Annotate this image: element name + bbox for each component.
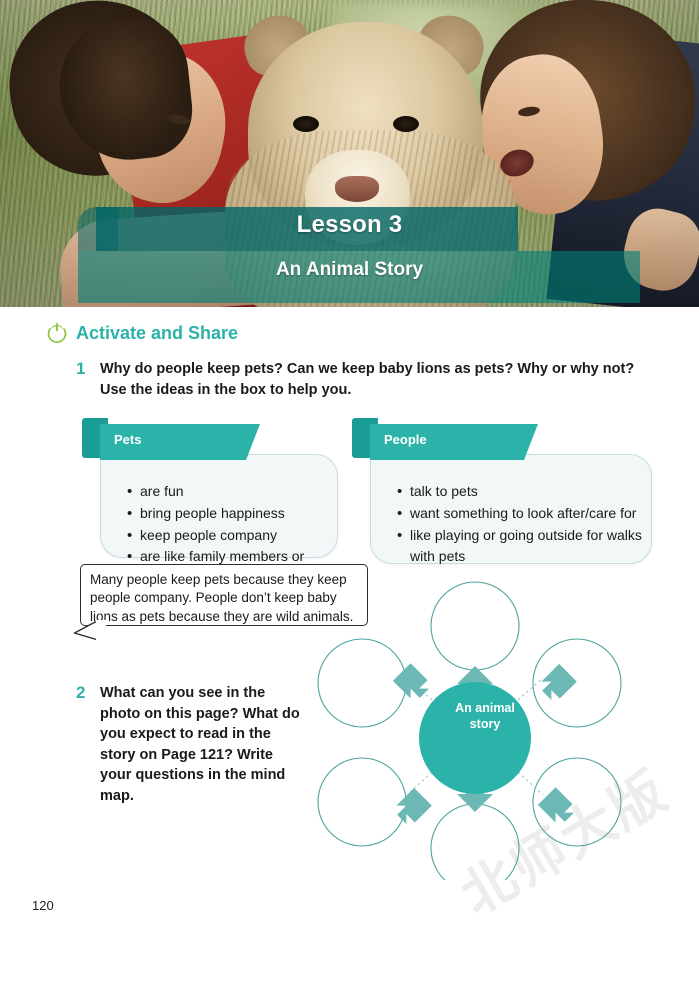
mind-map-node-top[interactable]: [431, 582, 519, 670]
idea-box-pets: are fun bring people happiness keep peop…: [82, 418, 338, 558]
idea-box-people-list: talk to pets want something to look afte…: [397, 481, 649, 568]
lesson-title: Lesson 3: [0, 211, 699, 239]
mind-map-node-bottom-left[interactable]: [318, 758, 406, 846]
question-2-number: 2: [76, 683, 85, 703]
question-2-text: What can you see in the photo on this pa…: [100, 683, 300, 806]
mind-map-center-node[interactable]: [419, 682, 531, 794]
question-1-text: Why do people keep pets? Can we keep bab…: [100, 359, 640, 400]
list-item: are fun: [127, 481, 337, 503]
mind-map-node-top-left[interactable]: [318, 639, 406, 727]
list-item: like playing or going outside for walks …: [397, 525, 649, 569]
idea-box-pets-title: Pets: [114, 432, 141, 447]
section-header: Activate and Share: [46, 322, 238, 344]
textbook-page: Lesson 3 An Animal Story Activate and Sh…: [0, 0, 699, 988]
list-item: talk to pets: [397, 481, 649, 503]
page-number: 120: [32, 898, 54, 913]
idea-box-people-body: talk to pets want something to look afte…: [370, 454, 652, 564]
mind-map-node-top-right[interactable]: [533, 639, 621, 727]
speech-bubble-tail: [72, 620, 106, 642]
power-icon: [46, 322, 68, 344]
list-item: keep people company: [127, 525, 337, 547]
list-item: want something to look after/care for: [397, 503, 649, 525]
section-heading-label: Activate and Share: [76, 323, 238, 344]
lesson-subtitle: An Animal Story: [0, 259, 699, 281]
list-item: bring people happiness: [127, 503, 337, 525]
question-1-number: 1: [76, 359, 85, 379]
idea-box-people-title: People: [384, 432, 427, 447]
idea-box-people: talk to pets want something to look afte…: [352, 418, 634, 558]
idea-box-pets-body: are fun bring people happiness keep peop…: [100, 454, 338, 558]
